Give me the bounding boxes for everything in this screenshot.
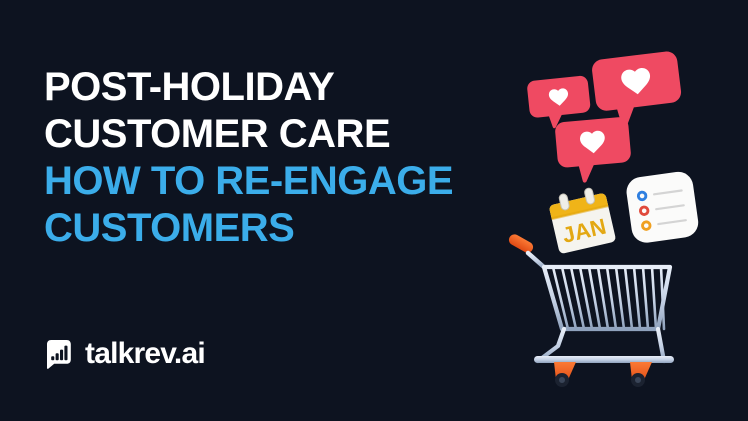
cart-handle [507, 232, 545, 268]
cart-wheel-right [630, 362, 652, 387]
brand-logo: talkrev.ai [42, 338, 205, 370]
promo-banner: POST-HOLIDAY CUSTOMER CARE HOW TO RE-ENG… [0, 0, 748, 421]
headline-line-2: CUSTOMER CARE [44, 111, 544, 158]
headline-line-3: HOW TO RE-ENGAGE [44, 158, 544, 205]
headline-line-4: CUSTOMERS [44, 205, 544, 252]
headline-block: POST-HOLIDAY CUSTOMER CARE HOW TO RE-ENG… [44, 64, 544, 252]
shopping-cart-icon [498, 228, 708, 396]
cart-ribs [553, 267, 664, 329]
logo-wordmark: talkrev.ai [85, 338, 205, 370]
headline-line-1: POST-HOLIDAY [44, 64, 544, 111]
cart-wheel-left [554, 362, 576, 387]
bar-chart-speech-bubble-icon [42, 338, 74, 370]
